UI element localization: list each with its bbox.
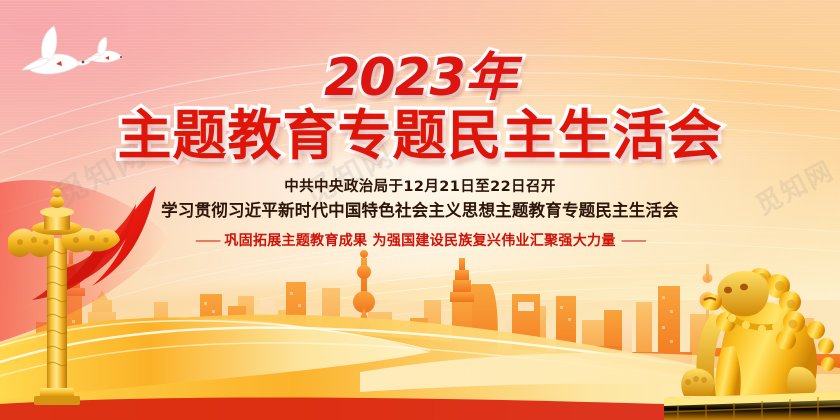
- lion-group: [681, 268, 835, 396]
- subtitle-line-2: 学习贯彻习近平新时代中国特色社会主义思想主题教育专题民主生活会: [0, 200, 840, 222]
- page-title: 主题教育专题民主生活会: [0, 108, 840, 164]
- poster-canvas: 觅知网 觅知网 觅知网 2023年 主题教育专题民主生活会 中共中央政治局于12…: [0, 0, 840, 420]
- tagline-text: 巩固拓展主题教育成果 为强国建设民族复兴伟业汇聚强大力量: [224, 233, 615, 249]
- tagline: —— 巩固拓展主题教育成果 为强国建设民族复兴伟业汇聚强大力量 ——: [0, 230, 840, 250]
- tagline-dash-right: ——: [621, 233, 645, 249]
- poster-text-block: 2023年 主题教育专题民主生活会 中共中央政治局于12月21日至22日召开 学…: [0, 52, 840, 250]
- tagline-dash-left: ——: [195, 233, 219, 249]
- subtitle-line-1: 中共中央政治局于12月21日至22日召开: [0, 178, 840, 198]
- title-year: 2023年: [0, 52, 840, 104]
- lion-pedestal: [664, 392, 840, 420]
